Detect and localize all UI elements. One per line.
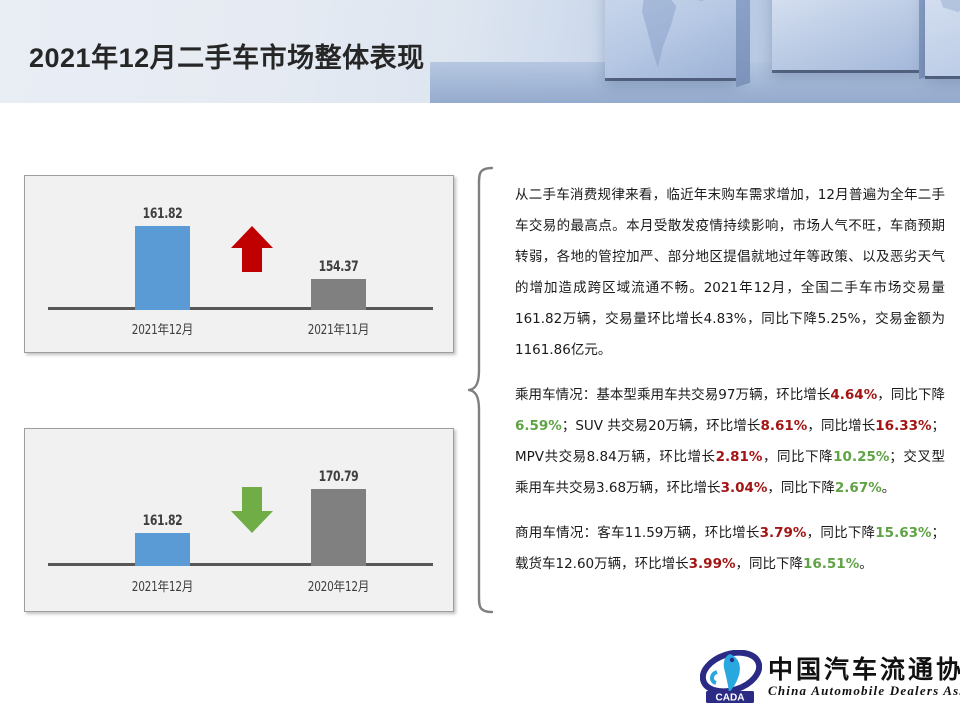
paragraph-commercial-vehicles: 商用车情况：客车11.59万辆，环比增长3.79%，同比下降15.63%；载货车… bbox=[515, 518, 945, 580]
bar-category-2021-12: 2021年12月 bbox=[115, 319, 210, 338]
text-run: 。 bbox=[882, 480, 896, 496]
text-run: ，同比下降 bbox=[767, 480, 835, 496]
bar-category-2021-11: 2021年11月 bbox=[291, 319, 386, 338]
bar-value-2021-11: 154.37 bbox=[315, 259, 362, 275]
text-run: ，同比下降 bbox=[806, 525, 875, 541]
text-run: 乘用车情况：基本型乘用车共交易97万辆，环比增长 bbox=[515, 387, 830, 403]
logo-name-cn: 中国汽车流通协会 bbox=[768, 650, 960, 686]
world-map-texture-icon bbox=[605, 0, 737, 78]
paragraph-overview: 从二手车消费规律来看，临近年末购车需求增加，12月普遍为全年二手车交易的最高点。… bbox=[515, 180, 945, 366]
highlight-decrease: 6.59% bbox=[515, 418, 562, 434]
highlight-increase: 8.61% bbox=[760, 418, 807, 434]
chart-baseline bbox=[48, 563, 433, 566]
cada-abbr-text: CADA bbox=[716, 693, 745, 704]
bar-2021-12 bbox=[135, 226, 190, 310]
page-header: 2021年12月二手车市场整体表现 bbox=[0, 0, 960, 103]
highlight-increase: 3.04% bbox=[721, 480, 768, 496]
analysis-text-column: 从二手车消费规律来看，临近年末购车需求增加，12月普遍为全年二手车交易的最高点。… bbox=[515, 180, 945, 580]
chart-plot-area: 161.82 2021年12月 154.37 2021年11月 bbox=[25, 176, 453, 352]
bar-value-2021-12: 161.82 bbox=[139, 206, 186, 222]
bar-2021-11 bbox=[311, 279, 366, 310]
text-run: 从二手车消费规律来看，临近年末购车需求增加，12月普遍为全年二手车交易的最高点。… bbox=[515, 187, 945, 358]
cada-emblem-icon: CADA bbox=[700, 650, 762, 704]
bar-value-2021-12: 161.82 bbox=[139, 513, 186, 529]
highlight-decrease: 2.67% bbox=[835, 480, 882, 496]
highlight-decrease: 16.51% bbox=[803, 556, 859, 572]
highlight-decrease: 15.63% bbox=[875, 525, 931, 541]
logo-name-en: China Automobile Dealers Association bbox=[768, 683, 960, 699]
chart-baseline bbox=[48, 307, 433, 310]
decorative-cube-3 bbox=[925, 0, 960, 76]
chart-card-month-over-month: 161.82 2021年12月 154.37 2021年11月 bbox=[24, 175, 454, 353]
paragraph-passenger-vehicles: 乘用车情况：基本型乘用车共交易97万辆，环比增长4.64%，同比下降6.59%；… bbox=[515, 380, 945, 504]
arrow-down-green-icon bbox=[231, 487, 273, 533]
highlight-increase: 16.33% bbox=[875, 418, 931, 434]
text-run: 。 bbox=[859, 556, 873, 572]
chart-card-year-over-year: 161.82 2021年12月 170.79 2020年12月 bbox=[24, 428, 454, 612]
bar-category-2021-12: 2021年12月 bbox=[115, 576, 210, 595]
bar-2021-12 bbox=[135, 533, 190, 566]
text-run: ；SUV 共交易20万辆，环比增长 bbox=[562, 418, 761, 434]
chart-plot-area: 161.82 2021年12月 170.79 2020年12月 bbox=[25, 429, 453, 611]
curly-brace-left-icon bbox=[466, 165, 496, 615]
highlight-increase: 3.99% bbox=[689, 556, 736, 572]
arrow-up-red-icon bbox=[231, 226, 273, 272]
cube-side-face bbox=[736, 0, 750, 87]
organization-logo: CADA 中国汽车流通协会 China Automobile Dealers A… bbox=[700, 648, 950, 706]
highlight-increase: 2.81% bbox=[716, 449, 763, 465]
world-map-texture-icon bbox=[925, 0, 960, 76]
text-run: ，同比下降 bbox=[762, 449, 833, 465]
page-title: 2021年12月二手车市场整体表现 bbox=[29, 36, 425, 75]
text-run: ，同比增长 bbox=[807, 418, 875, 434]
decorative-cube-2 bbox=[772, 0, 920, 70]
text-run: ，同比下降 bbox=[877, 387, 945, 403]
highlight-decrease: 10.25% bbox=[833, 449, 889, 465]
world-map-texture-icon bbox=[772, 0, 920, 70]
highlight-increase: 3.79% bbox=[760, 525, 807, 541]
bar-category-2020-12: 2020年12月 bbox=[291, 576, 386, 595]
bar-value-2020-12: 170.79 bbox=[315, 469, 362, 485]
bar-2020-12 bbox=[311, 489, 366, 566]
decorative-cube-1 bbox=[605, 0, 737, 78]
text-run: 商用车情况：客车11.59万辆，环比增长 bbox=[515, 525, 760, 541]
highlight-increase: 4.64% bbox=[830, 387, 877, 403]
text-run: ，同比下降 bbox=[736, 556, 804, 572]
